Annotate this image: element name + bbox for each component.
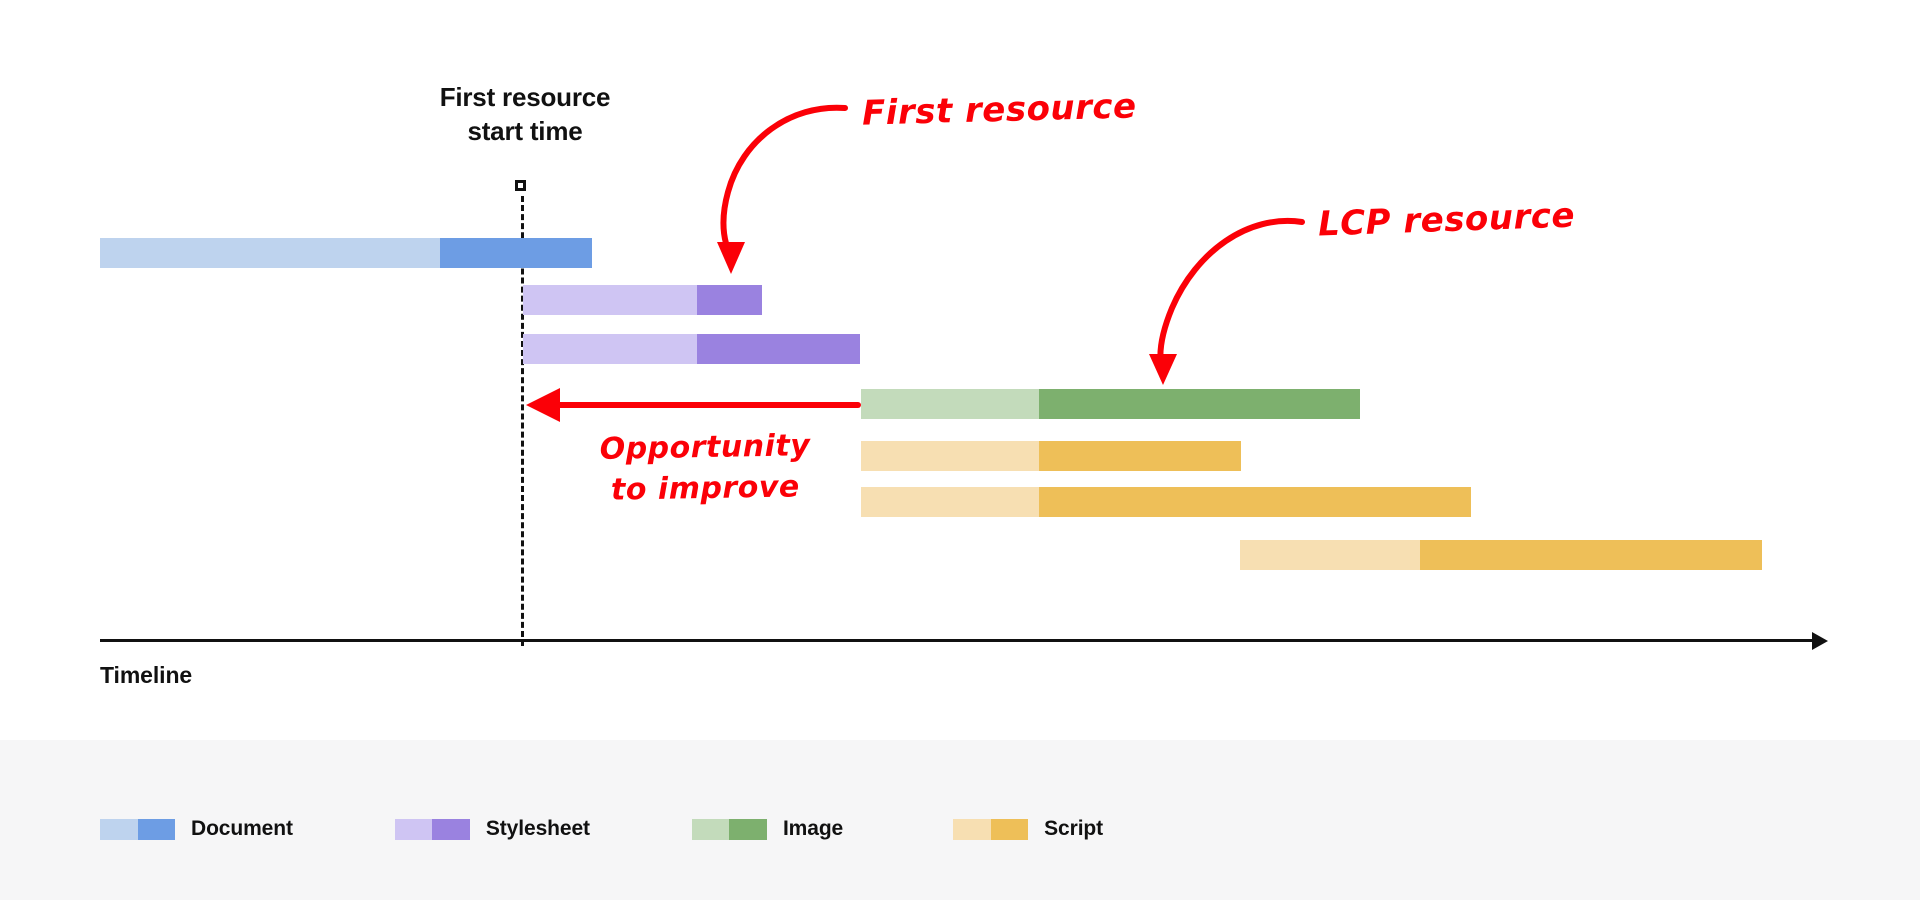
legend-label-document: Document: [191, 817, 293, 841]
bar-stylesheet-1-download-segment: [697, 285, 762, 315]
bar-stylesheet-1[interactable]: [523, 285, 762, 315]
bar-stylesheet-2[interactable]: [523, 334, 860, 364]
first-resource-start-time-label: First resource start time: [355, 80, 695, 149]
legend-swatch-stylesheet-dark: [432, 819, 470, 840]
legend-swatch-script-dark: [991, 819, 1029, 840]
bar-image-download-segment: [1039, 389, 1360, 419]
legend-items-row: Document Stylesheet Image: [100, 817, 1165, 841]
bar-document[interactable]: [100, 238, 592, 268]
bar-script-2[interactable]: [861, 487, 1471, 517]
legend-swatch-document-light: [100, 819, 138, 840]
timeline-axis-label: Timeline: [100, 662, 192, 689]
bar-script-3-wait-segment: [1240, 540, 1420, 570]
legend-label-image: Image: [783, 817, 843, 841]
bar-image-lcp[interactable]: [861, 389, 1360, 419]
legend-item-image[interactable]: Image: [692, 817, 843, 841]
opportunity-arrow-icon: [526, 388, 858, 422]
first-resource-marker-handle-icon[interactable]: [515, 180, 526, 191]
bar-script-3[interactable]: [1240, 540, 1762, 570]
legend-label-script: Script: [1044, 817, 1103, 841]
legend-item-stylesheet[interactable]: Stylesheet: [395, 817, 590, 841]
bar-script-1-wait-segment: [861, 441, 1039, 471]
chart-plot-area: First resource start time: [0, 0, 1920, 740]
legend-swatch-image-icon: [692, 819, 767, 840]
legend-swatch-image-dark: [729, 819, 767, 840]
timeline-axis-arrow-icon: [1812, 632, 1828, 650]
bar-script-1[interactable]: [861, 441, 1241, 471]
bar-stylesheet-2-wait-segment: [523, 334, 697, 364]
legend-swatch-document-icon: [100, 819, 175, 840]
legend-swatch-script-icon: [953, 819, 1028, 840]
lcp-resource-timeline-chart: First resource start time: [0, 0, 1920, 900]
legend-label-stylesheet: Stylesheet: [486, 817, 590, 841]
legend-swatch-document-dark: [138, 819, 176, 840]
annotation-opportunity-text: Opportunity to improve: [599, 426, 810, 511]
bar-document-download-segment: [440, 238, 592, 268]
bar-stylesheet-1-wait-segment: [523, 285, 697, 315]
bar-image-wait-segment: [861, 389, 1039, 419]
bar-script-2-download-segment: [1039, 487, 1471, 517]
lcp-resource-arrow-icon: [1149, 221, 1302, 385]
legend-swatch-stylesheet-icon: [395, 819, 470, 840]
bar-document-wait-segment: [100, 238, 440, 268]
first-resource-arrow-icon: [717, 108, 845, 274]
legend-swatch-image-light: [692, 819, 730, 840]
legend-swatch-script-light: [953, 819, 991, 840]
legend-item-script[interactable]: Script: [953, 817, 1103, 841]
bar-script-3-download-segment: [1420, 540, 1762, 570]
bar-script-2-wait-segment: [861, 487, 1039, 517]
timeline-axis-line: [100, 639, 1818, 642]
bar-stylesheet-2-download-segment: [697, 334, 860, 364]
legend-swatch-stylesheet-light: [395, 819, 433, 840]
legend-bar: Document Stylesheet Image: [0, 740, 1920, 900]
annotation-first-resource-text: First resource: [862, 86, 1138, 133]
bar-script-1-download-segment: [1039, 441, 1241, 471]
legend-item-document[interactable]: Document: [100, 817, 293, 841]
annotation-lcp-resource-text: LCP resource: [1317, 196, 1575, 245]
